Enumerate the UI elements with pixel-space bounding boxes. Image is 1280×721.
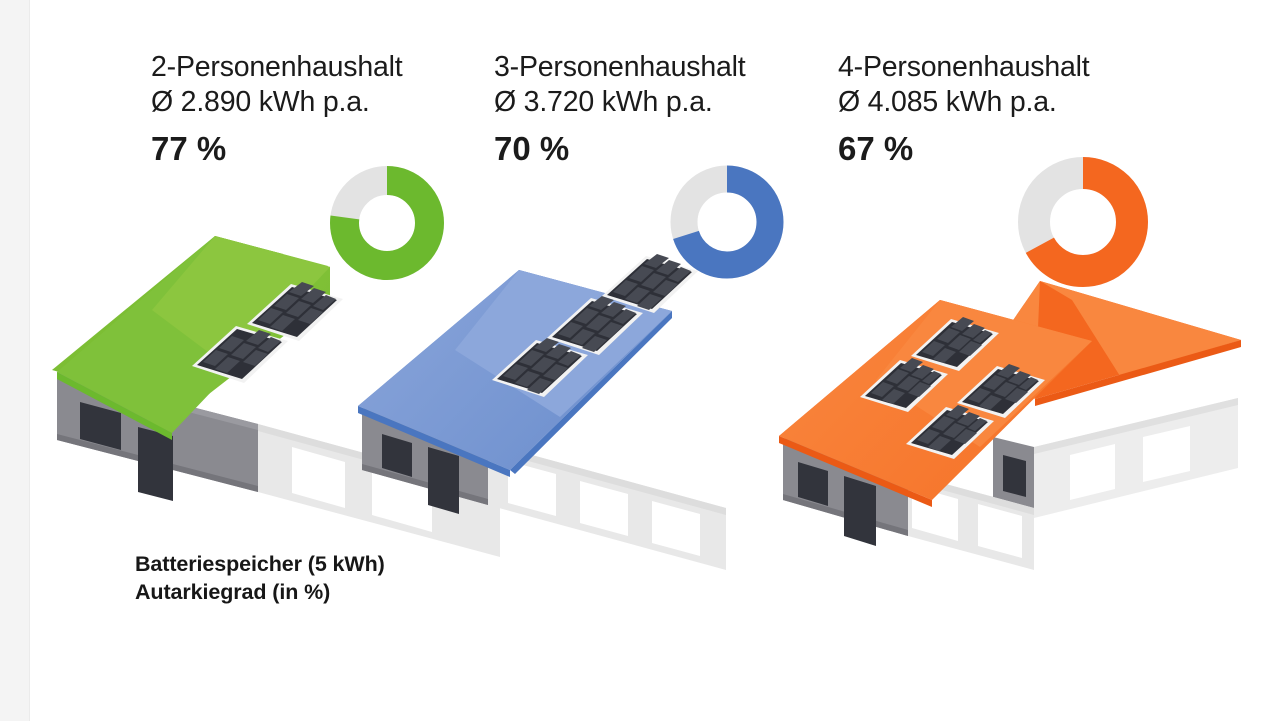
donut-chart-household-2 [345,181,430,266]
house-right-wing-front-wall [1034,398,1238,518]
house-household-4 [779,281,1241,570]
caption-line-battery: Batteriespeicher (5 kWh) [135,550,385,578]
autarky-percent: 70 % [494,129,746,169]
caption-line-autarky: Autarkiegrad (in %) [135,578,385,606]
house-right-wing-gable-window [1003,455,1026,497]
donut-chart-household-3 [684,179,770,265]
household-label: 3-Personenhaushalt [494,50,746,85]
consumption-label: Ø 3.720 kWh p.a. [494,85,746,120]
donut-chart-household-4 [1034,173,1132,271]
household-label: 4-Personenhaushalt [838,50,1090,85]
household-label: 2-Personenhaushalt [151,50,403,85]
house-gable-door [428,447,459,514]
column-header-household-2: 2-Personenhaushalt Ø 2.890 kWh p.a. 77 % [151,50,403,169]
autarky-percent: 77 % [151,129,403,169]
consumption-label: Ø 2.890 kWh p.a. [151,85,403,120]
legend-caption: Batteriespeicher (5 kWh) Autarkiegrad (i… [135,550,385,606]
consumption-label: Ø 4.085 kWh p.a. [838,85,1090,120]
house-gable-door [138,427,173,501]
column-header-household-3: 3-Personenhaushalt Ø 3.720 kWh p.a. 70 % [494,50,746,169]
autarky-percent: 67 % [838,129,1090,169]
infographic-canvas: 2-Personenhaushalt Ø 2.890 kWh p.a. 77 %… [0,0,1280,721]
house-gable-door [844,476,876,546]
column-header-household-4: 4-Personenhaushalt Ø 4.085 kWh p.a. 67 % [838,50,1090,169]
